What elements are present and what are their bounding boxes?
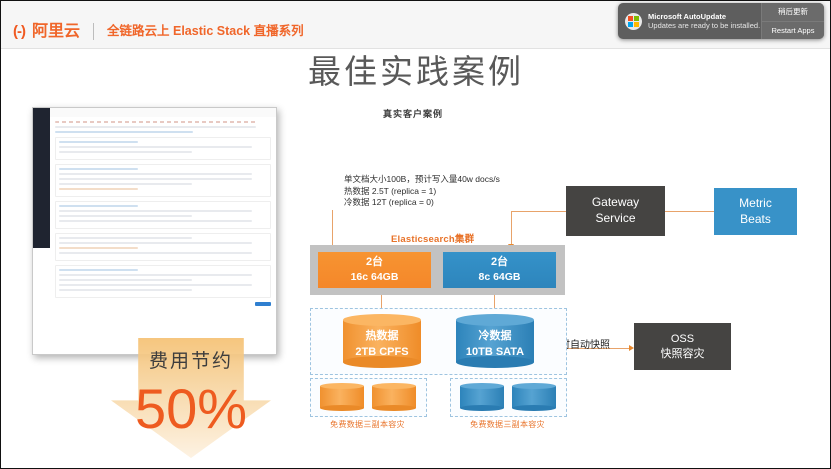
node-hot-spec: 16c 64GB [318, 270, 431, 284]
hot-data-spec: 2TB CPFS [343, 345, 421, 360]
gateway-line-1: Gateway [592, 195, 639, 209]
notification-actions: 稍后更新 Restart Apps [761, 3, 824, 39]
cluster-node-hot: 2台 16c 64GB [318, 252, 431, 288]
slide-header: (-) 阿里云 全链路云上 Elastic Stack 直播系列 Microso… [1, 1, 831, 49]
architecture-diagram: 单文档大小100B，预计写入量40w docs/s 热数据 2.5T (repl… [296, 166, 826, 456]
cold-data-name: 冷数据 [456, 329, 534, 344]
hot-data-cylinder: 热数据 2TB CPFS [343, 314, 421, 368]
replica-cylinder-hot-1 [320, 383, 364, 411]
console-screenshot-thumbnail [32, 107, 277, 355]
cluster-label: Elasticsearch集群 [391, 231, 474, 245]
annotation-line-2: 热数据 2.5T (replica = 1) [344, 186, 500, 198]
thumbnail-content [50, 117, 276, 354]
oss-text: OSS 快照容灾 [661, 332, 705, 362]
notification-app-name: Microsoft AutoUpdate [648, 12, 760, 21]
hot-data-name: 热数据 [343, 329, 421, 344]
metricbeats-line-1: Metric [739, 196, 772, 210]
metric-beats-text: Metric Beats [739, 196, 772, 227]
replica-cylinder-cold-2 [512, 383, 556, 411]
oss-line-2: 快照容灾 [661, 348, 705, 360]
logo-divider [93, 23, 94, 40]
notification-text: Microsoft AutoUpdate Updates are ready t… [648, 12, 760, 31]
cost-saving-label: 费用节约 [111, 346, 271, 373]
brand-logo: (-) 阿里云 全链路云上 Elastic Stack 直播系列 [13, 23, 304, 40]
annotation-line-1: 单文档大小100B，预计写入量40w docs/s [344, 174, 500, 186]
notification-content: Microsoft AutoUpdate Updates are ready t… [618, 3, 761, 39]
hot-data-text: 热数据 2TB CPFS [343, 329, 421, 360]
gateway-service-text: Gateway Service [592, 195, 639, 226]
series-title: 全链路云上 Elastic Stack 直播系列 [107, 25, 304, 38]
sizing-annotations: 单文档大小100B，预计写入量40w docs/s 热数据 2.5T (repl… [344, 174, 500, 209]
page-subtitle: 真实客户案例 [383, 107, 443, 120]
node-hot-count: 2台 [318, 255, 431, 270]
cost-saving-callout: 费用节约 50% [111, 338, 271, 458]
thumbnail-sidebar [33, 108, 50, 248]
notification-message: Updates are ready to be installed. [648, 21, 760, 30]
microsoft-logo-icon [625, 13, 642, 30]
aliyun-logo-icon: (-) [13, 24, 25, 39]
oss-line-1: OSS [671, 333, 694, 345]
replica-label-left: 免费数据三副本容灾 [310, 419, 425, 430]
connector-gateway-vertical [511, 211, 512, 247]
page-title: 最佳实践案例 [308, 53, 524, 91]
annotation-line-3: 冷数据 12T (replica = 0) [344, 197, 500, 209]
gateway-line-2: Service [595, 211, 635, 225]
replica-cylinder-cold-1 [460, 383, 504, 411]
oss-snapshot-box: OSS 快照容灾 [634, 323, 731, 370]
update-later-button[interactable]: 稍后更新 [762, 3, 824, 21]
replica-cylinder-hot-2 [372, 383, 416, 411]
node-cold-spec: 8c 64GB [443, 270, 556, 284]
autoupdate-notification[interactable]: Microsoft AutoUpdate Updates are ready t… [618, 3, 824, 39]
cold-data-spec: 10TB SATA [456, 345, 534, 360]
connector-metricbeats [665, 211, 714, 212]
cold-data-cylinder: 冷数据 10TB SATA [456, 314, 534, 368]
metric-beats-box: Metric Beats [714, 188, 797, 235]
cold-data-text: 冷数据 10TB SATA [456, 329, 534, 360]
cluster-node-cold: 2台 8c 64GB [443, 252, 556, 288]
thumbnail-submit-button [255, 302, 271, 306]
presentation-slide: (-) 阿里云 全链路云上 Elastic Stack 直播系列 Microso… [0, 0, 831, 469]
replica-label-right: 免费数据三副本容灾 [450, 419, 565, 430]
connector-ingest-vertical [332, 210, 333, 248]
metricbeats-line-2: Beats [740, 212, 771, 226]
cost-saving-value: 50% [111, 381, 271, 437]
node-cold-count: 2台 [443, 255, 556, 270]
connector-gateway-horizontal [511, 211, 567, 212]
gateway-service-box: Gateway Service [566, 186, 665, 236]
restart-apps-button[interactable]: Restart Apps [762, 21, 824, 40]
elasticsearch-cluster-box: 2台 16c 64GB 2台 8c 64GB [310, 245, 565, 295]
aliyun-logo-text: 阿里云 [32, 24, 80, 40]
